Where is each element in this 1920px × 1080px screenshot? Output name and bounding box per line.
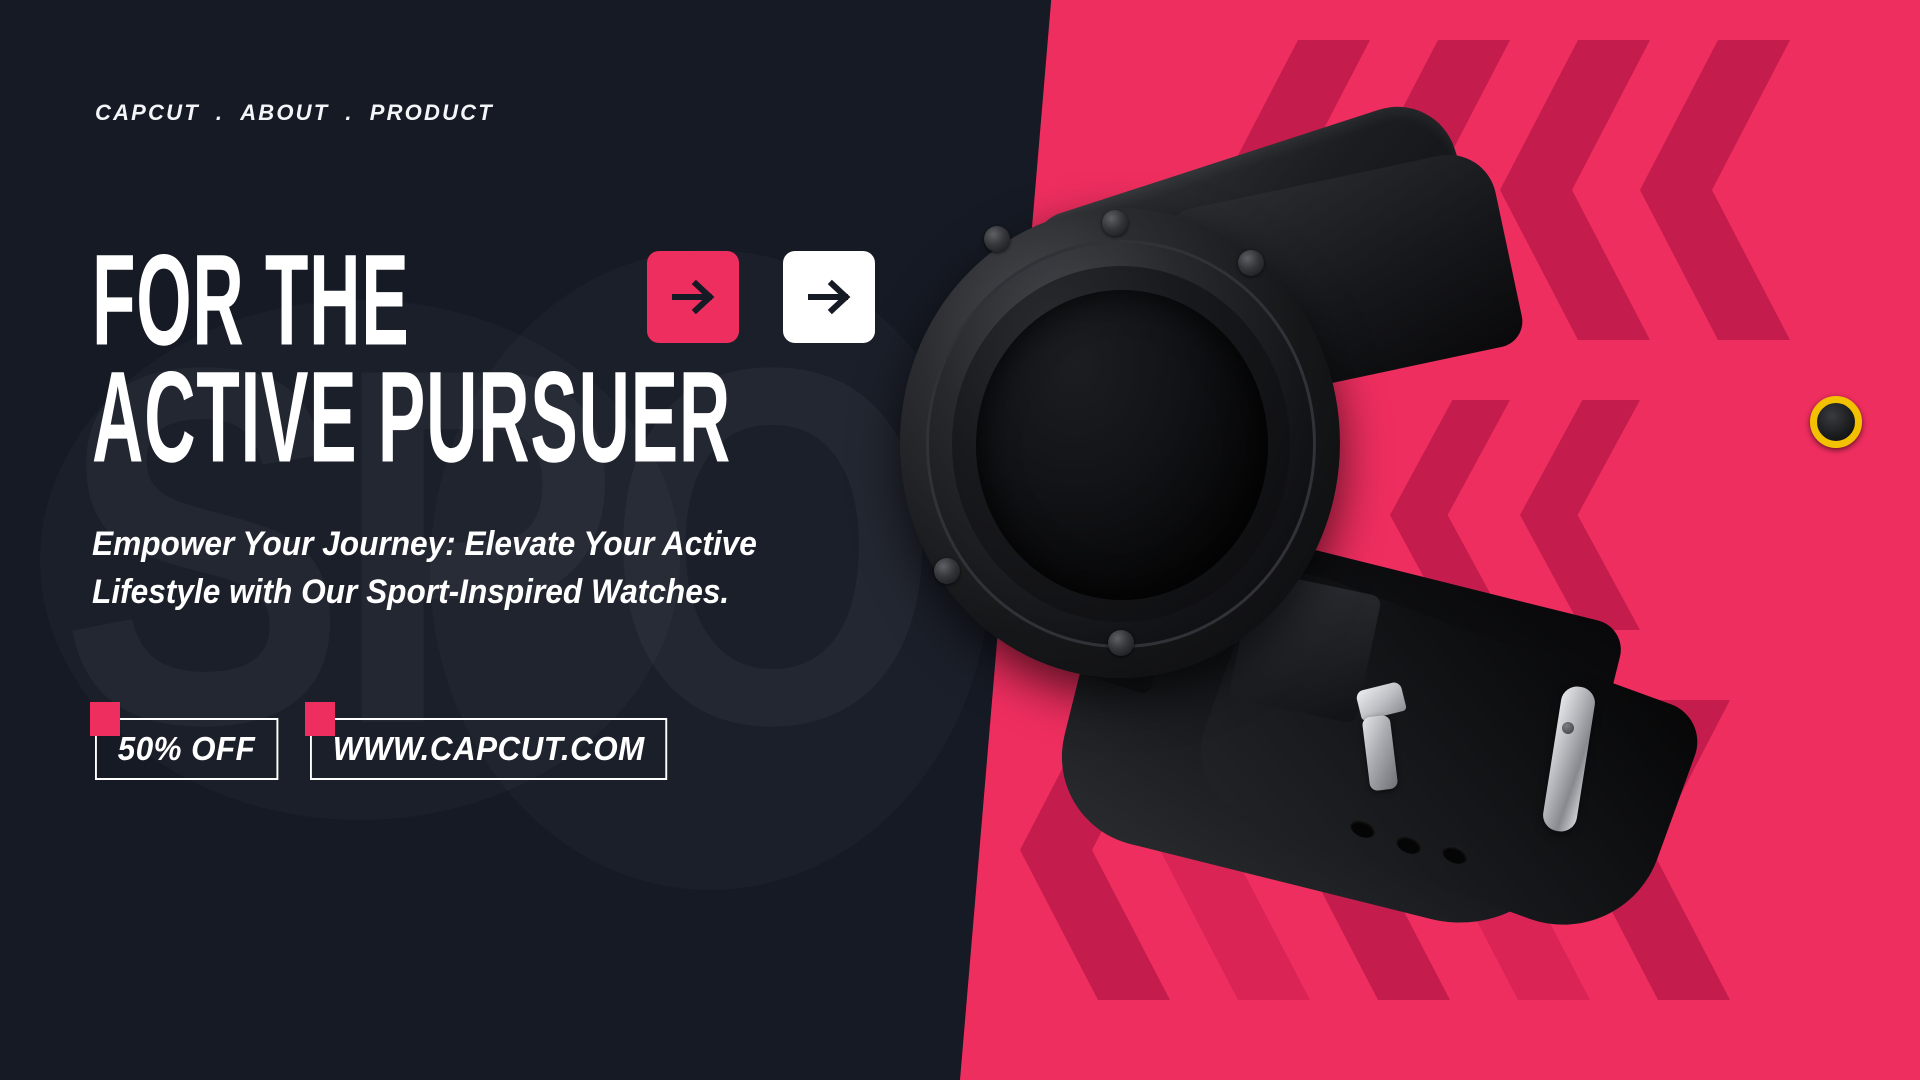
website-badge-wrap: WWW.CAPCUT.COM bbox=[310, 718, 686, 780]
chevron-decoration bbox=[1300, 700, 1450, 1000]
subtitle-line-2: Lifestyle with Our Sport-Inspired Watche… bbox=[92, 568, 799, 616]
chevron-decoration bbox=[1520, 400, 1640, 630]
top-navigation: CAPCUT . ABOUT . PRODUCT bbox=[95, 100, 494, 126]
nav-separator: . bbox=[329, 100, 369, 126]
pink-background-panel bbox=[960, 0, 1920, 1080]
chevron-decoration bbox=[1440, 700, 1590, 1000]
badge-corner-square bbox=[305, 702, 335, 736]
chevron-decoration bbox=[1020, 700, 1170, 1000]
hero-subtitle: Empower Your Journey: Elevate Your Activ… bbox=[92, 520, 799, 617]
arrow-button-secondary[interactable] bbox=[783, 251, 875, 343]
hero-headline: FOR THE ACTIVE PURSUER bbox=[92, 250, 912, 467]
headline-line-2: ACTIVE PURSUER bbox=[92, 357, 633, 476]
nav-item-about[interactable]: ABOUT bbox=[240, 100, 329, 126]
chevron-decoration bbox=[1360, 40, 1510, 340]
badge-corner-square bbox=[90, 702, 120, 736]
banner-stage: SPO CAPCUT . ABOUT . PRODUCT bbox=[0, 0, 1920, 1080]
arrow-right-icon bbox=[667, 271, 719, 323]
hero-arrow-button-group bbox=[647, 251, 875, 343]
chevron-decoration bbox=[1160, 700, 1310, 1000]
subtitle-line-1: Empower Your Journey: Elevate Your Activ… bbox=[92, 520, 799, 568]
watch-bezel-screw bbox=[984, 226, 1010, 252]
arrow-right-icon bbox=[803, 271, 855, 323]
discount-badge[interactable]: 50% OFF bbox=[95, 718, 278, 780]
watch-bezel-screw bbox=[934, 558, 960, 584]
nav-item-capcut[interactable]: CAPCUT bbox=[95, 100, 200, 126]
discount-badge-wrap: 50% OFF bbox=[95, 718, 288, 780]
nav-separator: . bbox=[200, 100, 240, 126]
chevron-decoration bbox=[1640, 40, 1790, 340]
arrow-button-primary[interactable] bbox=[647, 251, 739, 343]
chevron-decoration bbox=[1500, 40, 1650, 340]
website-badge[interactable]: WWW.CAPCUT.COM bbox=[310, 718, 668, 780]
chevron-decoration bbox=[1390, 400, 1510, 630]
chevron-decoration bbox=[1220, 40, 1370, 340]
chevron-decoration bbox=[1580, 700, 1730, 1000]
cta-badge-group: 50% OFF WWW.CAPCUT.COM bbox=[95, 718, 686, 780]
nav-item-product[interactable]: PRODUCT bbox=[370, 100, 494, 126]
headline-line-1: FOR THE bbox=[92, 240, 409, 359]
